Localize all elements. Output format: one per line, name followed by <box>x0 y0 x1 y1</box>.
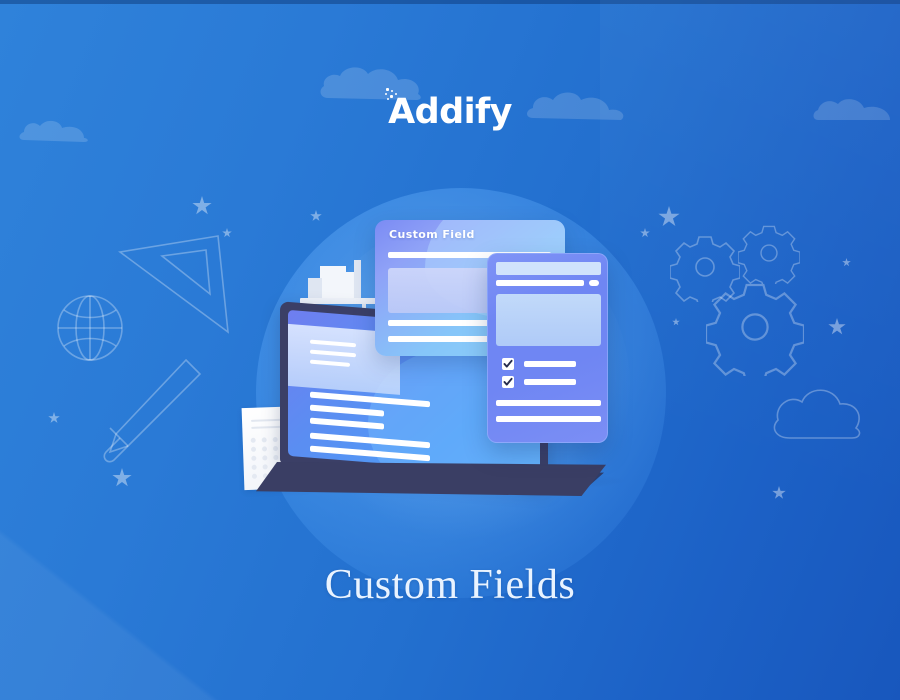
custom-field-card-title: Custom Field <box>389 228 475 241</box>
checkbox-checked[interactable] <box>502 358 514 370</box>
checkbox-checked[interactable] <box>502 376 514 388</box>
checkbox-form-card <box>487 253 608 443</box>
page-title: Custom Fields <box>0 561 900 609</box>
laptop-base <box>256 462 606 496</box>
promo-banner: Addify <box>0 0 900 700</box>
